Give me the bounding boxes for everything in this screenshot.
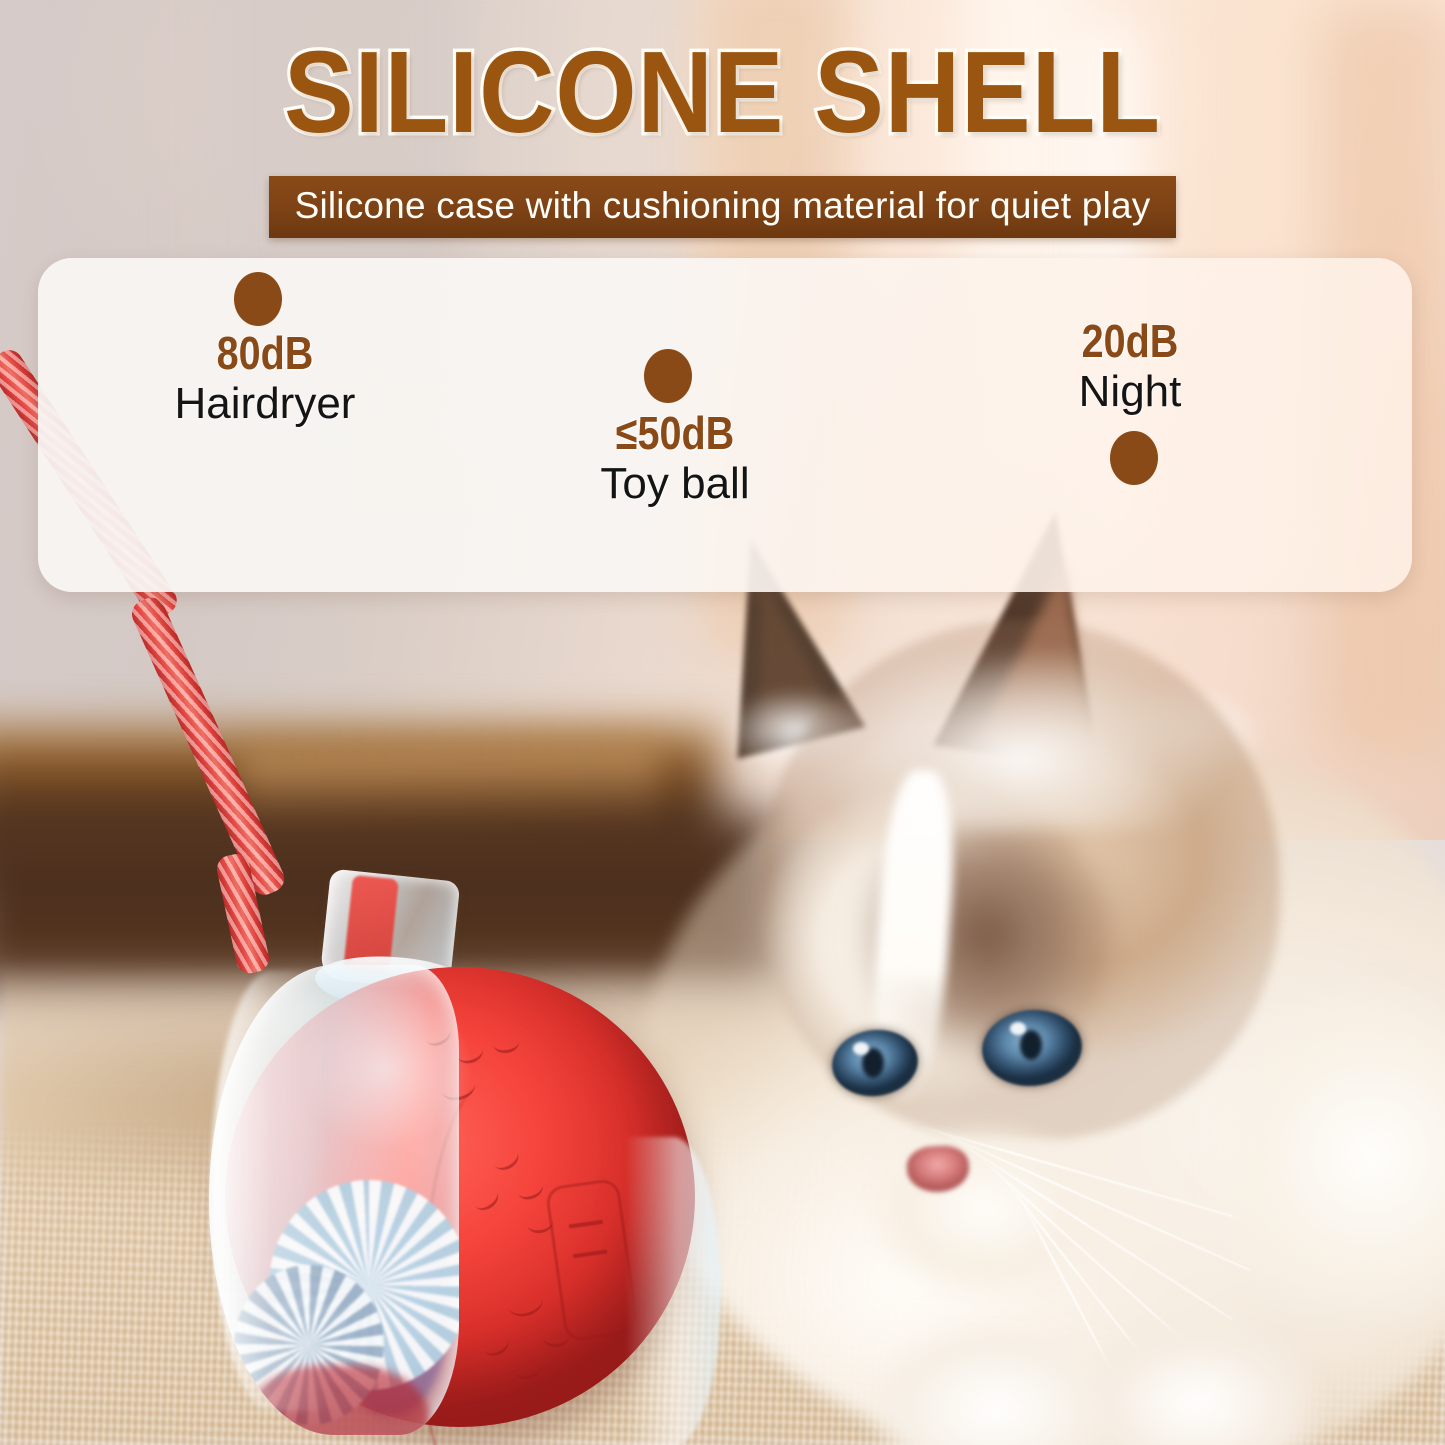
- chart-name-hairdryer: Hairdryer: [140, 379, 390, 428]
- product-infographic-page: SILICONE SHELL Silicone case with cushio…: [0, 0, 1445, 1445]
- chart-value-hairdryer: 80dB: [158, 330, 373, 377]
- chart-name-toyball: Toy ball: [545, 459, 805, 508]
- cat-eye-glint: [853, 1042, 869, 1055]
- chart-label-hairdryer: 80dB Hairdryer: [140, 330, 390, 428]
- subtitle-text: Silicone case with cushioning material f…: [269, 176, 1177, 238]
- chart-point-toyball: [644, 349, 692, 403]
- chart-point-night: [1110, 431, 1158, 485]
- cat-toy-ball: [215, 875, 760, 1435]
- chart-value-toyball: ≤50dB: [563, 410, 787, 457]
- chart-point-hairdryer: [234, 272, 282, 326]
- chart-label-night: 20dB Night: [1005, 318, 1255, 416]
- chart-label-toyball: ≤50dB Toy ball: [545, 410, 805, 508]
- cat-right-pupil: [1020, 1030, 1042, 1060]
- page-title: SILICONE SHELL: [72, 32, 1373, 154]
- cat-eye-glint: [1010, 1022, 1026, 1035]
- cat-forehead-fur: [750, 590, 1290, 830]
- rope-segment: [127, 593, 288, 899]
- toy-button-icon: [569, 1220, 607, 1258]
- toy-rim-highlight: [211, 971, 331, 1411]
- cat-front-paws: [850, 1310, 1410, 1445]
- toy-right-clear-edge: [625, 1137, 721, 1445]
- chart-name-night: Night: [1005, 367, 1255, 416]
- chart-value-night: 20dB: [1023, 318, 1238, 365]
- subtitle-bar: Silicone case with cushioning material f…: [0, 176, 1445, 238]
